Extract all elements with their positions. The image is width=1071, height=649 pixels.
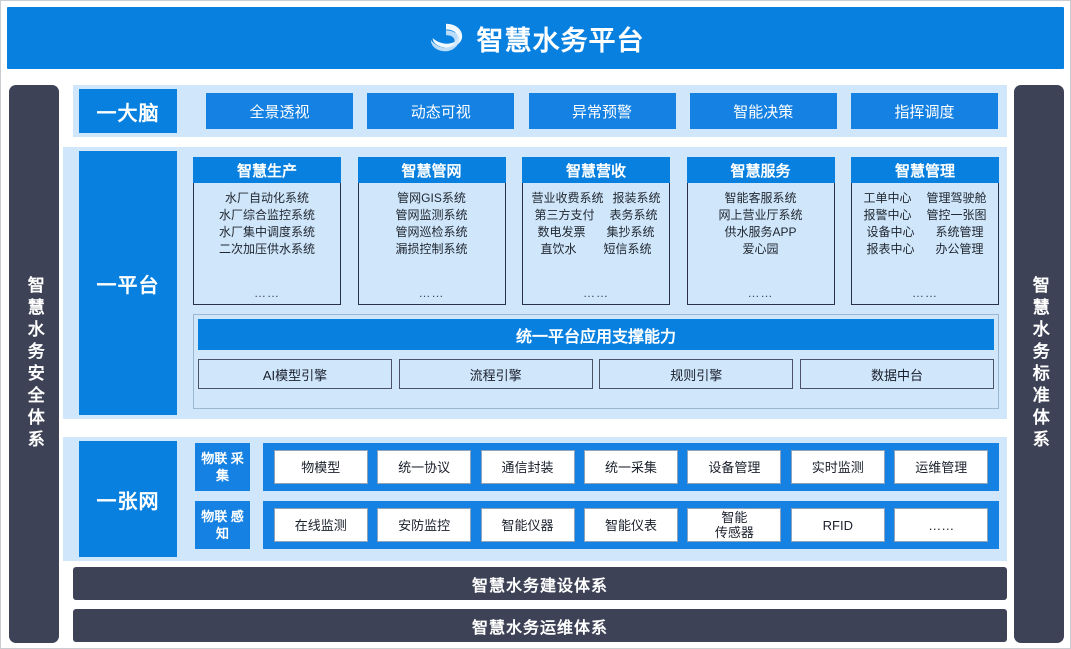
- platform-column-title[interactable]: 智慧管理: [851, 157, 999, 183]
- platform-item[interactable]: 第三方支付: [534, 207, 594, 224]
- side-panel-standards: 智慧水务标准体系: [1014, 85, 1064, 643]
- platform-item[interactable]: 二次加压供水系统: [219, 241, 315, 258]
- diagram-canvas: 智慧水务平台 智慧水务安全体系 智慧水务标准体系 一大脑 全景透视动态可视异常预…: [0, 0, 1071, 649]
- platform-item[interactable]: 报警中心: [863, 207, 911, 224]
- platform-item[interactable]: 智能客服系统: [724, 190, 796, 207]
- network-chip[interactable]: 通信封装: [481, 450, 575, 484]
- page-title: 智慧水务平台: [477, 19, 645, 58]
- header-inner: 智慧水务平台: [427, 19, 645, 58]
- platform-item[interactable]: 爱心园: [742, 241, 778, 258]
- platform-item-row: 营业收费系统报装系统: [527, 190, 665, 207]
- platform-item-row: 设备中心系统管理: [856, 224, 994, 241]
- platform-column-ellipsis: ……: [419, 286, 445, 300]
- platform-column-title[interactable]: 智慧管网: [358, 157, 506, 183]
- platform-item[interactable]: 水厂综合监控系统: [219, 207, 315, 224]
- platform-column-list: 智慧生产水厂自动化系统水厂综合监控系统水厂集中调度系统二次加压供水系统……智慧管…: [193, 157, 999, 305]
- network-chip[interactable]: 设备管理: [687, 450, 781, 484]
- platform-column-body: 管网GIS系统管网监测系统管网巡检系统漏损控制系统……: [358, 183, 506, 305]
- platform-item-row: 工单中心管理驾驶舱: [856, 190, 994, 207]
- network-chip[interactable]: 智能仪表: [584, 508, 678, 542]
- side-panel-standards-label: 智慧水务标准体系: [1029, 276, 1049, 452]
- platform-item-row: 报表中心办公管理: [856, 241, 994, 258]
- brain-item-list: 全景透视动态可视异常预警智能决策指挥调度: [206, 93, 998, 129]
- platform-item[interactable]: 报表中心: [866, 241, 914, 258]
- platform-item[interactable]: 管理驾驶舱: [926, 190, 986, 207]
- side-panel-security-label: 智慧水务安全体系: [24, 276, 44, 452]
- platform-column-ellipsis: ……: [254, 286, 280, 300]
- platform-item[interactable]: 供水服务APP: [724, 224, 796, 241]
- platform-item[interactable]: 水厂集中调度系统: [219, 224, 315, 241]
- platform-item-row: 报警中心管控一张图: [856, 207, 994, 224]
- support-capability-list: AI模型引擎流程引擎规则引擎数据中台: [198, 359, 994, 389]
- brain-chip[interactable]: 智能决策: [690, 93, 837, 129]
- brain-chip[interactable]: 全景透视: [206, 93, 353, 129]
- support-capability-chip[interactable]: 规则引擎: [599, 359, 793, 389]
- network-chip[interactable]: 智能 传感器: [687, 508, 781, 542]
- brain-chip[interactable]: 异常预警: [529, 93, 676, 129]
- network-chip[interactable]: 统一协议: [377, 450, 471, 484]
- platform-item-row: 直饮水短信系统: [527, 241, 665, 258]
- platform-column: 智慧服务智能客服系统网上营业厅系统供水服务APP爱心园……: [687, 157, 835, 305]
- platform-item[interactable]: 集抄系统: [606, 224, 654, 241]
- platform-column-title[interactable]: 智慧生产: [193, 157, 341, 183]
- network-row-sensing: 在线监测安防监控智能仪器智能仪表智能 传感器RFID……: [263, 501, 999, 549]
- network-tag-collection: 物联 采集: [195, 443, 250, 491]
- support-capability-chip[interactable]: AI模型引擎: [198, 359, 392, 389]
- bottom-bar-operations: 智慧水务运维体系: [73, 609, 1007, 642]
- network-tag-sensing: 物联 感知: [195, 501, 250, 549]
- platform-item[interactable]: 水厂自动化系统: [225, 190, 309, 207]
- platform-item[interactable]: 表务系统: [609, 207, 657, 224]
- platform-column: 智慧营收营业收费系统报装系统第三方支付表务系统数电发票集抄系统直饮水短信系统……: [522, 157, 670, 305]
- network-chip[interactable]: 在线监测: [274, 508, 368, 542]
- support-capability-chip[interactable]: 流程引擎: [399, 359, 593, 389]
- platform-item[interactable]: 直饮水: [540, 241, 576, 258]
- platform-section-label: 一平台: [79, 151, 177, 415]
- brain-chip[interactable]: 指挥调度: [851, 93, 998, 129]
- platform-item[interactable]: 数电发票: [537, 224, 585, 241]
- network-chip[interactable]: 运维管理: [894, 450, 988, 484]
- network-section-label: 一张网: [79, 441, 177, 557]
- platform-item[interactable]: 营业收费系统: [531, 190, 603, 207]
- platform-item[interactable]: 管控一张图: [926, 207, 986, 224]
- network-row-collection: 物模型统一协议通信封装统一采集设备管理实时监测运维管理: [263, 443, 999, 491]
- network-chip[interactable]: 统一采集: [584, 450, 678, 484]
- platform-item[interactable]: 网上营业厅系统: [718, 207, 802, 224]
- network-chip[interactable]: ……: [894, 508, 988, 542]
- brain-chip[interactable]: 动态可视: [367, 93, 514, 129]
- platform-column-body: 营业收费系统报装系统第三方支付表务系统数电发票集抄系统直饮水短信系统……: [522, 183, 670, 305]
- platform-item[interactable]: 系统管理: [935, 224, 983, 241]
- platform-item[interactable]: 管网巡检系统: [395, 224, 467, 241]
- platform-column-title[interactable]: 智慧服务: [687, 157, 835, 183]
- support-capability-chip[interactable]: 数据中台: [800, 359, 994, 389]
- platform-column-ellipsis: ……: [583, 286, 609, 300]
- platform-item[interactable]: 管网监测系统: [395, 207, 467, 224]
- platform-item-row: 第三方支付表务系统: [527, 207, 665, 224]
- platform-column-body: 水厂自动化系统水厂综合监控系统水厂集中调度系统二次加压供水系统……: [193, 183, 341, 305]
- platform-column-ellipsis: ……: [912, 286, 938, 300]
- network-chip[interactable]: 实时监测: [791, 450, 885, 484]
- platform-item-row: 数电发票集抄系统: [527, 224, 665, 241]
- platform-column: 智慧生产水厂自动化系统水厂综合监控系统水厂集中调度系统二次加压供水系统……: [193, 157, 341, 305]
- network-chip[interactable]: 物模型: [274, 450, 368, 484]
- network-chip[interactable]: RFID: [791, 508, 885, 542]
- platform-item[interactable]: 漏损控制系统: [395, 241, 467, 258]
- platform-item[interactable]: 设备中心: [866, 224, 914, 241]
- platform-column-body: 工单中心管理驾驶舱报警中心管控一张图设备中心系统管理报表中心办公管理……: [851, 183, 999, 305]
- network-chip[interactable]: 安防监控: [377, 508, 471, 542]
- page-header: 智慧水务平台: [7, 7, 1064, 69]
- platform-item[interactable]: 报装系统: [612, 190, 660, 207]
- support-capability-panel: 统一平台应用支撑能力 AI模型引擎流程引擎规则引擎数据中台: [193, 314, 999, 409]
- platform-item[interactable]: 工单中心: [863, 190, 911, 207]
- platform-column-title[interactable]: 智慧营收: [522, 157, 670, 183]
- platform-column-body: 智能客服系统网上营业厅系统供水服务APP爱心园……: [687, 183, 835, 305]
- side-panel-security: 智慧水务安全体系: [9, 85, 59, 643]
- bottom-bar-construction: 智慧水务建设体系: [73, 567, 1007, 600]
- platform-column-ellipsis: ……: [748, 286, 774, 300]
- network-chip[interactable]: 智能仪器: [481, 508, 575, 542]
- platform-column: 智慧管理工单中心管理驾驶舱报警中心管控一张图设备中心系统管理报表中心办公管理……: [851, 157, 999, 305]
- brain-section-label: 一大脑: [79, 89, 177, 133]
- water-leaf-logo-icon: [427, 19, 465, 57]
- platform-item[interactable]: 短信系统: [603, 241, 651, 258]
- platform-column: 智慧管网管网GIS系统管网监测系统管网巡检系统漏损控制系统……: [358, 157, 506, 305]
- platform-item[interactable]: 管网GIS系统: [397, 190, 466, 207]
- platform-item[interactable]: 办公管理: [935, 241, 983, 258]
- support-capability-title: 统一平台应用支撑能力: [198, 319, 994, 350]
